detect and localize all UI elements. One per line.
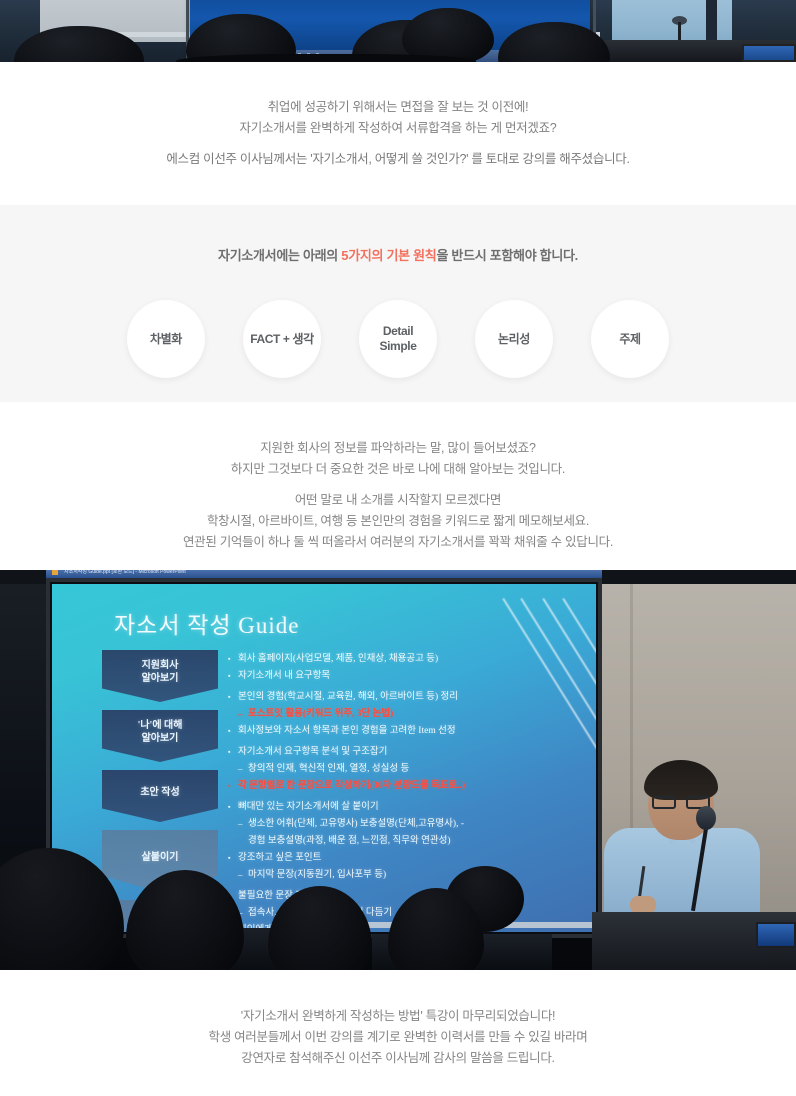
intro-line-1: 취업에 성공하기 위해서는 면접을 잘 보는 것 이전에! (0, 97, 796, 118)
principle-1-line1: 차별화 (150, 332, 182, 347)
outro-line-2: 학생 여러분들께서 이번 강의를 계기로 완벽한 이력서를 만들 수 있길 바라… (0, 1027, 796, 1048)
middle-line-1: 지원한 회사의 정보를 파악하라는 말, 많이 들어보셨죠? (0, 438, 796, 459)
text-gap (0, 480, 796, 490)
slide-bullet: 자기소개서 내 요구항목 (228, 669, 596, 683)
principles-heading-before: 자기소개서에는 아래의 (218, 248, 341, 263)
middle-line-3: 어떤 말로 내 소개를 시작할지 모르겠다면 (0, 490, 796, 511)
slide-bullet: 강조하고 싶은 포인트 (228, 851, 596, 865)
principles-heading-highlight: 5가지의 기본 원칙 (341, 248, 436, 263)
outro-line-1: '자기소개서 완벽하게 작성하는 방법' 특강이 마무리되었습니다! (0, 1006, 796, 1027)
page-root: 오후 3:47 취업에 성공하기 위해서는 면접을 잘 보는 것 이전에! 자기… (0, 0, 796, 1096)
slide-bullet: 경험 보충설명(과정, 배운 점, 느낀점, 직무와 연관성) (228, 834, 596, 848)
slide-title: 자소서 작성 Guide (114, 606, 300, 640)
principles-section: 자기소개서에는 아래의 5가지의 기본 원칙을 반드시 포함해야 합니다. 차별… (0, 205, 796, 402)
middle-line-5: 연관된 기억들이 하나 둘 씩 떠올라서 여러분의 자기소개서를 꽉꽉 채워줄 … (0, 532, 796, 553)
audience-shoulder (176, 54, 476, 62)
slide-bullet: 마지막 문장(지동원기, 입사포부 등) (228, 868, 596, 882)
monitor-main (756, 922, 796, 948)
slide-bullet: 포스트잇 활용(키워드 위주, 3단 논법) (228, 707, 596, 721)
slide-bullet: 본인의 경험(학교시절, 교육원, 해외, 아르바이트 등) 정리 (228, 690, 596, 704)
slide-bullet: 생소한 어휘(단체, 고유명사) 보충설명(단체,고유명사), - (228, 817, 596, 831)
principle-3-line1: Detail (380, 324, 417, 339)
slide-step-2: '나'에 대해알아보기 (102, 710, 218, 762)
principles-heading: 자기소개서에는 아래의 5가지의 기본 원칙을 반드시 포함해야 합니다. (0, 245, 796, 264)
photo-top-classroom: 오후 3:47 (0, 0, 796, 62)
principle-2-line1: FACT + 생각 (250, 332, 314, 347)
slide-step-1: 지원회사알아보기 (102, 650, 218, 702)
principle-circle-4[interactable]: 논리성 (475, 300, 553, 378)
outro-text-block: '자기소개서 완벽하게 작성하는 방법' 특강이 마무리되었습니다! 학생 여러… (0, 1006, 796, 1069)
outro-line-3: 강연자로 참석해주신 이선주 이사님께 감사의 말씀을 드립니다. (0, 1048, 796, 1069)
slide-bullet: 창의적 인재, 혁신적 인재, 열정, 성실성 등 (228, 762, 596, 776)
intro-emphasis-line: 에스컴 이선주 이사님께서는 '자기소개서, 어떻게 쓸 것인가?' 를 토대로… (0, 149, 796, 170)
intro-line-2: 자기소개서를 완벽하게 작성하여 서류합격을 하는 게 먼저겠죠? (0, 118, 796, 139)
slide-bullet: 자기소개서 요구항목 분석 및 구조잡기 (228, 745, 596, 759)
speaker-tie-top (706, 0, 717, 42)
microphone-head-main (696, 806, 716, 830)
slide-bullet: 각 문항별로 한 문장으로 작성하기(30자 분량도를 목표로..) (228, 779, 596, 793)
middle-text-block: 지원한 회사의 정보를 파악하라는 말, 많이 들어보셨죠? 하지만 그것보다 … (0, 438, 796, 553)
principle-5-line1: 주제 (619, 332, 640, 347)
principle-circle-2[interactable]: FACT + 생각 (243, 300, 321, 378)
audience-head (402, 8, 494, 62)
intro-text-block: 취업에 성공하기 위해서는 면접을 잘 보는 것 이전에! 자기소개서를 완벽하… (0, 97, 796, 170)
powerpoint-titlebar: 자소서작성 Guide.ppt [호환 모드] - Microsoft Powe… (46, 570, 602, 578)
middle-line-4: 학창시절, 아르바이트, 여행 등 본인만의 경험을 키워드로 짧게 메모해보세… (0, 511, 796, 532)
middle-line-2: 하지만 그것보다 더 중요한 것은 바로 나에 대해 알아보는 것입니다. (0, 459, 796, 480)
principle-circle-1[interactable]: 차별화 (127, 300, 205, 378)
photo-main-lecture: 자소서작성 Guide.ppt [호환 모드] - Microsoft Powe… (0, 570, 796, 970)
principles-circle-list: 차별화 FACT + 생각 Detail Simple 논리성 (0, 291, 796, 387)
monitor-top (742, 44, 796, 62)
slide-bullet-list: 회사 홈페이지(사업모델, 제품, 인재상, 채용공고 등) 자기소개서 내 요… (228, 652, 596, 932)
principles-heading-after: 을 반드시 포함해야 합니다. (436, 248, 578, 263)
slide-step-3: 초안 작성 (102, 770, 218, 822)
principle-circle-5[interactable]: 주제 (591, 300, 669, 378)
principle-circle-3[interactable]: Detail Simple (359, 300, 437, 378)
principle-3-line2: Simple (380, 339, 417, 354)
slide-bullet: 뼈대만 있는 자기소개서에 살 붙이기 (228, 800, 596, 814)
powerpoint-icon (52, 570, 58, 575)
powerpoint-title-text: 자소서작성 Guide.ppt [호환 모드] - Microsoft Powe… (64, 570, 186, 575)
slide-bullet: 회사정보와 자소서 항목과 본인 경험을 고려한 Item 선정 (228, 724, 596, 738)
principle-4-line1: 논리성 (498, 332, 530, 347)
